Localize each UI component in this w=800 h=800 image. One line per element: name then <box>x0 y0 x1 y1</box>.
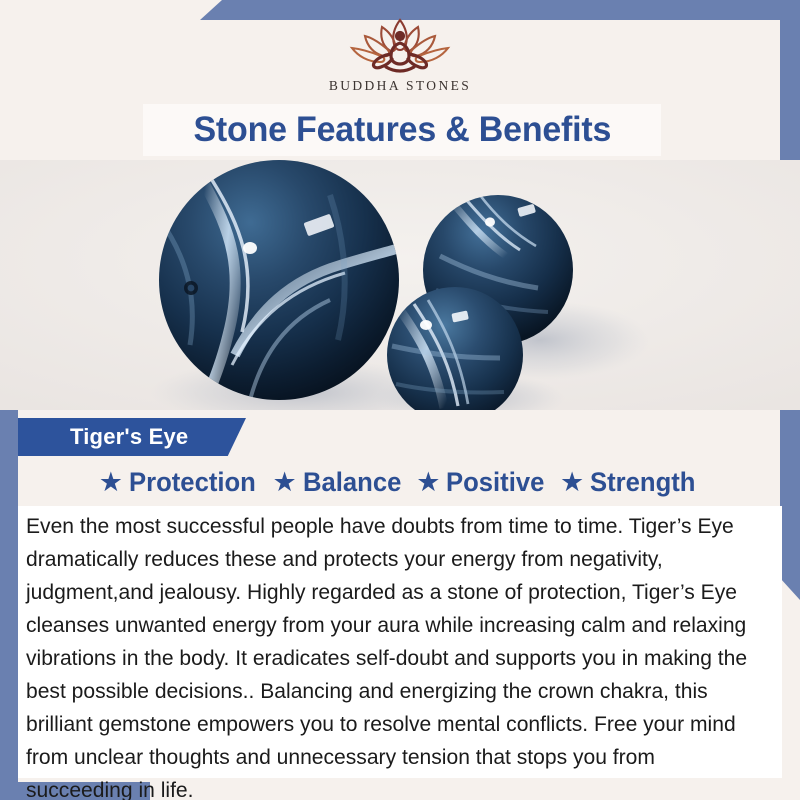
page-title: Stone Features & Benefits <box>193 110 611 150</box>
brand-logo-area: BUDDHA STONES <box>0 14 800 106</box>
star-icon: ★ <box>416 469 440 496</box>
star-icon: ★ <box>272 469 296 496</box>
benefit-label: Positive <box>446 467 544 498</box>
benefit-item-protection: ★ Protection <box>99 467 263 498</box>
benefits-row: ★ Protection ★ Balance ★ Positive ★ Stre… <box>0 462 800 502</box>
stone-name-ribbon: Tiger's Eye <box>18 418 246 456</box>
star-icon: ★ <box>99 469 123 496</box>
benefit-label: Strength <box>590 467 695 498</box>
stone-name-label: Tiger's Eye <box>70 424 188 450</box>
lotus-meditation-figure-icon <box>334 14 466 76</box>
benefit-label: Protection <box>129 467 256 498</box>
gemstone-photo <box>0 160 800 410</box>
star-icon: ★ <box>560 469 584 496</box>
benefit-item-strength: ★ Strength <box>560 467 701 498</box>
description-panel: Even the most successful people have dou… <box>18 506 782 778</box>
benefit-label: Balance <box>303 467 401 498</box>
infographic-page: BUDDHA STONES Stone Features & Benefits <box>0 0 800 800</box>
brand-name: BUDDHA STONES <box>329 78 471 94</box>
benefit-item-balance: ★ Balance <box>272 467 406 498</box>
title-banner: Stone Features & Benefits <box>143 104 661 156</box>
benefit-item-positive: ★ Positive <box>416 467 550 498</box>
description-text: Even the most successful people have dou… <box>26 510 759 800</box>
